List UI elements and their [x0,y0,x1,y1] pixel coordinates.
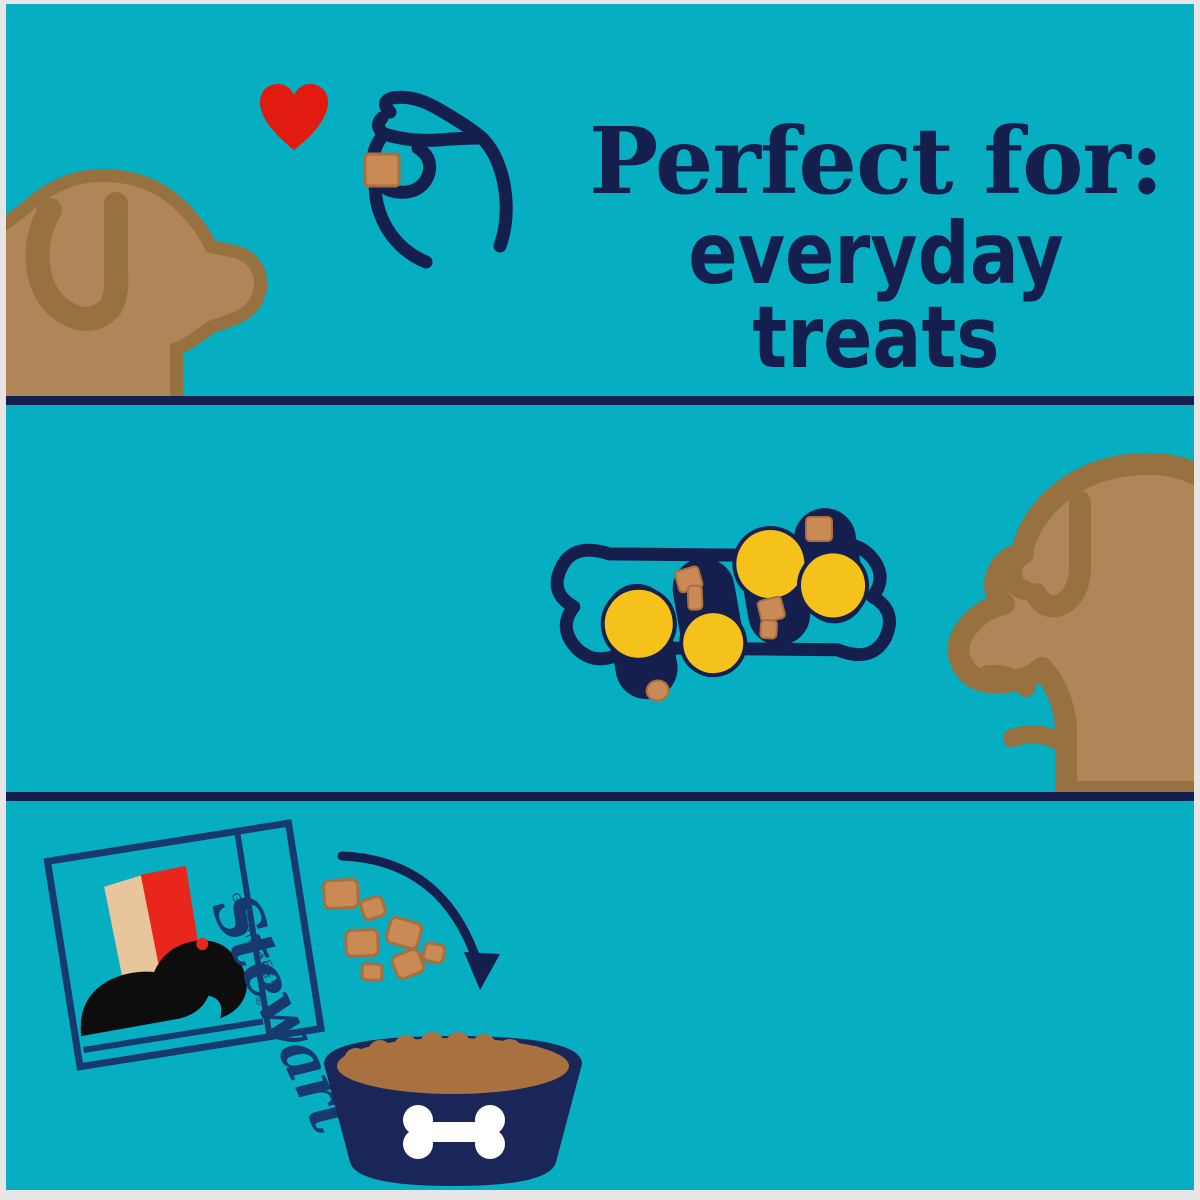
panel-food-topper: Stewart GUARANTEED DELICIOUS ® [6,798,1194,1190]
panel1-heading: Perfect for: everyday treats [566,116,1186,381]
dog-head-right-icon [866,438,1194,792]
stewart-treat-bag-icon: Stewart GUARANTEED DELICIOUS ® [40,818,350,1068]
infographic-canvas: Perfect for: everyday treats enrichment … [6,4,1194,1190]
panel1-heading-serif: Perfect for: [566,116,1186,206]
dog-bowl-icon [318,1030,588,1190]
heart-icon [258,82,330,152]
panel1-heading-sans: everyday treats [585,212,1168,381]
hand-pinching-treat-icon [354,92,544,292]
panel-enrichment-training: enrichment and training [6,402,1194,792]
bone-puzzle-toy-icon [542,472,914,740]
curved-arrow-icon [332,844,522,1004]
dog-head-icon [6,132,292,396]
panel-everyday-treats: Perfect for: everyday treats [6,4,1194,396]
infographic-root: Perfect for: everyday treats enrichment … [0,0,1200,1200]
